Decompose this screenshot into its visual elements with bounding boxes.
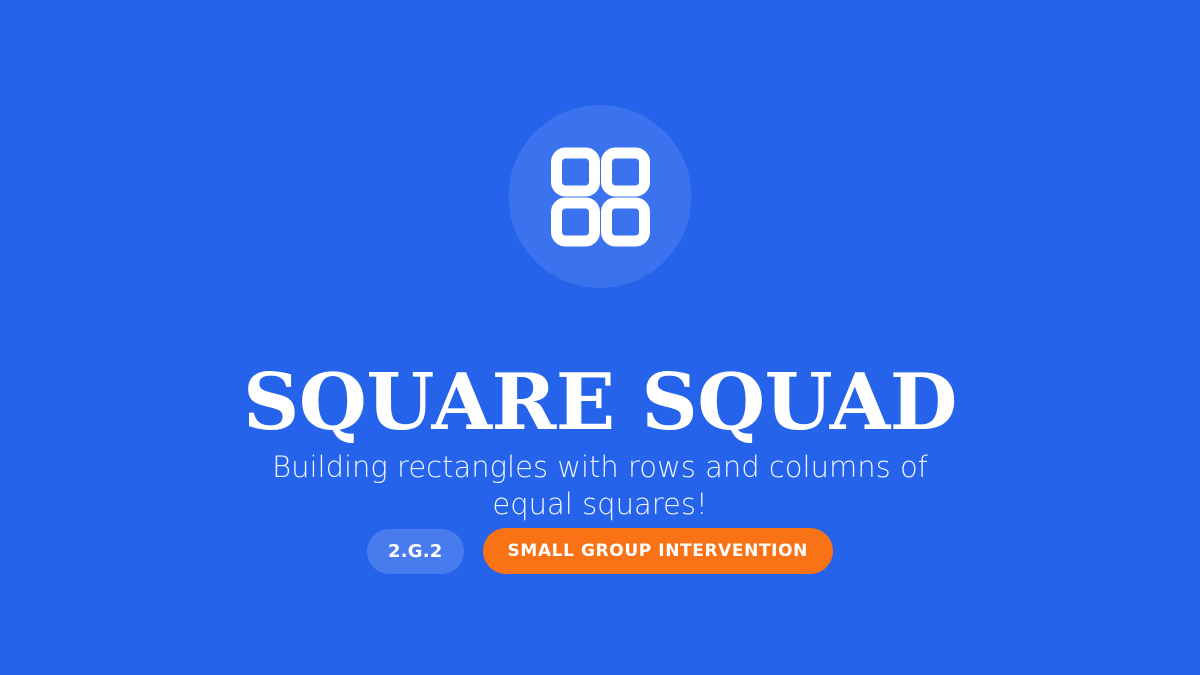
- page-subtitle: Building rectangles with rows and column…: [240, 449, 960, 523]
- group-type-badge: SMALL GROUP INTERVENTION: [483, 528, 833, 574]
- grid-2x2-icon: [550, 147, 650, 247]
- badge-row: 2.G.2 SMALL GROUP INTERVENTION: [0, 528, 1200, 574]
- page-title: SQUARE SQUAD: [0, 364, 1200, 442]
- icon-badge: [509, 105, 692, 288]
- standard-code-badge: 2.G.2: [367, 529, 464, 574]
- title-slide: SQUARE SQUAD Building rectangles with ro…: [0, 0, 1200, 675]
